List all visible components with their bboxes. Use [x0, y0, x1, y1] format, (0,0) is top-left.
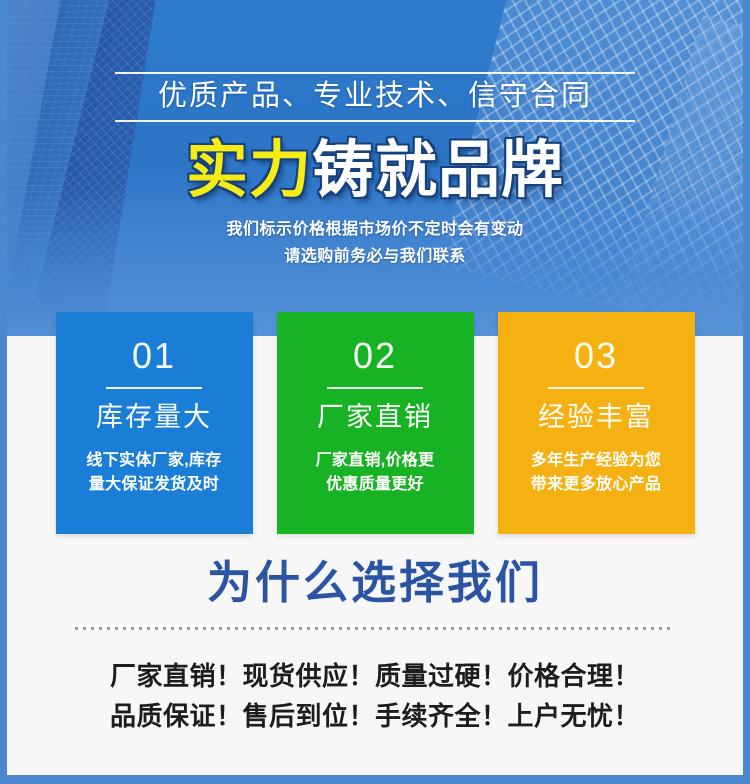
bottom-section: 为什么选择我们 厂家直销！现货供应！质量过硬！价格合理！ 品质保证！售后到位！手… [7, 545, 743, 775]
card-description: 线下实体厂家,库存 量大保证发货及时 [56, 449, 253, 497]
hero-main-title: 实力铸就品牌 [7, 138, 743, 203]
feature-card-03[interactable]: 03 经验丰富 多年生产经验为您 带来更多放心产品 [498, 312, 695, 534]
card-title: 库存量大 [56, 403, 253, 433]
card-number: 01 [56, 338, 253, 374]
hero-section: 优质产品、专业技术、信守合同 实力铸就品牌 我们标示价格根据市场价不定时会有变动… [7, 0, 743, 336]
feature-card-01[interactable]: 01 库存量大 线下实体厂家,库存 量大保证发货及时 [56, 312, 253, 534]
card-divider [548, 387, 644, 389]
feature-cards: 01 库存量大 线下实体厂家,库存 量大保证发货及时 02 厂家直销 厂家直销,… [7, 312, 743, 534]
card-divider [106, 387, 202, 389]
card-description-line-1: 多年生产经验为您 [510, 449, 683, 473]
slogan-line-1: 厂家直销！现货供应！质量过硬！价格合理！ [7, 656, 743, 696]
card-description-line-2: 带来更多放心产品 [510, 473, 683, 497]
card-description-line-1: 线下实体厂家,库存 [68, 449, 241, 473]
slogan-line-2: 品质保证！售后到位！手续齐全！上户无忧！ [7, 696, 743, 736]
hero-subtitle-line-2: 请选购前务必与我们联系 [7, 244, 743, 270]
card-title: 经验丰富 [498, 403, 695, 433]
feature-card-02[interactable]: 02 厂家直销 厂家直销,价格更 优惠质量更好 [277, 312, 474, 534]
dotted-divider [75, 627, 675, 630]
card-number: 02 [277, 338, 474, 374]
slogan-list: 厂家直销！现货供应！质量过硬！价格合理！ 品质保证！售后到位！手续齐全！上户无忧… [7, 656, 743, 737]
hero-subtitle-line-1: 我们标示价格根据市场价不定时会有变动 [7, 217, 743, 243]
card-divider [327, 387, 423, 389]
hero-title-highlight: 实力 [186, 136, 312, 205]
card-number: 03 [498, 338, 695, 374]
card-description: 多年生产经验为您 带来更多放心产品 [498, 449, 695, 497]
hero-title-rest: 铸就品牌 [312, 136, 564, 205]
why-choose-us-heading: 为什么选择我们 [7, 545, 743, 609]
tagline-rule-wrapper: 优质产品、专业技术、信守合同 [115, 72, 635, 122]
card-description: 厂家直销,价格更 优惠质量更好 [277, 449, 474, 497]
card-description-line-2: 优惠质量更好 [289, 473, 462, 497]
card-description-line-2: 量大保证发货及时 [68, 473, 241, 497]
hero-tagline: 优质产品、专业技术、信守合同 [115, 80, 635, 113]
banner-inner: 优质产品、专业技术、信守合同 实力铸就品牌 我们标示价格根据市场价不定时会有变动… [7, 0, 743, 775]
hero-subtitle: 我们标示价格根据市场价不定时会有变动 请选购前务必与我们联系 [7, 217, 743, 270]
card-title: 厂家直销 [277, 403, 474, 433]
promo-banner: 优质产品、专业技术、信守合同 实力铸就品牌 我们标示价格根据市场价不定时会有变动… [0, 0, 750, 784]
hero-content: 优质产品、专业技术、信守合同 实力铸就品牌 我们标示价格根据市场价不定时会有变动… [7, 0, 743, 270]
card-description-line-1: 厂家直销,价格更 [289, 449, 462, 473]
